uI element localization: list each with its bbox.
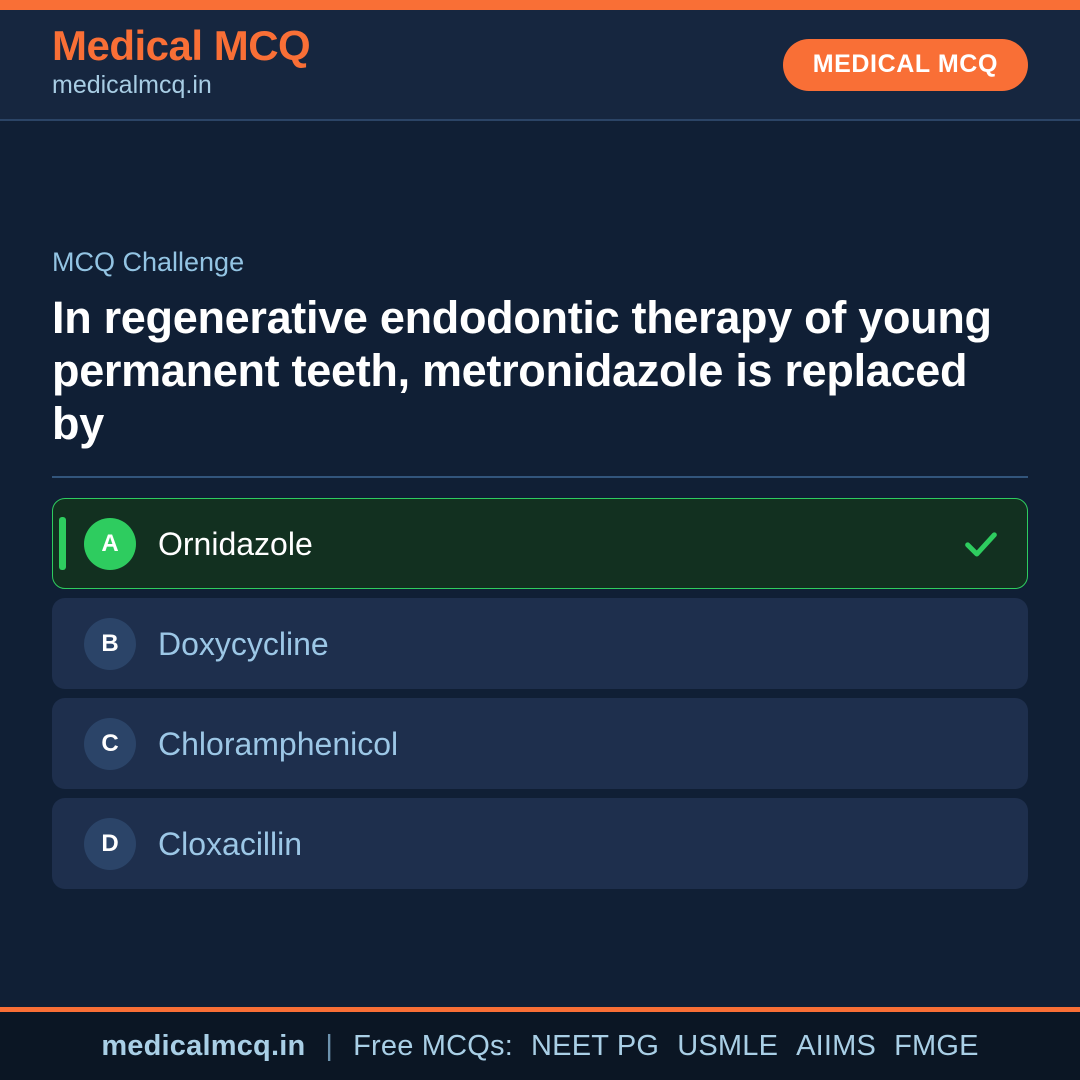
footer-site-link[interactable]: medicalmcq.in <box>101 1030 305 1063</box>
option-c-letter-badge: C <box>84 718 136 770</box>
section-divider <box>52 476 1028 478</box>
footer-exam-neet-pg: NEET PG <box>527 1030 659 1063</box>
footer-label: Free MCQs: <box>353 1030 513 1063</box>
header-badge: MEDICAL MCQ <box>783 39 1028 91</box>
options-list: A Ornidazole B Doxycycline C Chloramphen… <box>52 498 1028 897</box>
footer: medicalmcq.in | Free MCQs: NEET PG USMLE… <box>0 1012 1080 1080</box>
footer-exam-fmge: FMGE <box>890 1030 979 1063</box>
option-a[interactable]: A Ornidazole <box>52 498 1028 589</box>
option-b[interactable]: B Doxycycline <box>52 598 1028 689</box>
footer-separator: | <box>319 1030 339 1063</box>
brand: Medical MCQ medicalmcq.in <box>52 24 310 101</box>
top-accent-bar <box>0 0 1080 10</box>
check-icon <box>961 524 1001 564</box>
main-content: MCQ Challenge In regenerative endodontic… <box>0 121 1080 1007</box>
question-text: In regenerative endodontic therapy of yo… <box>52 292 1012 450</box>
brand-subtitle: medicalmcq.in <box>52 70 310 101</box>
option-c[interactable]: C Chloramphenicol <box>52 698 1028 789</box>
option-d-letter-badge: D <box>84 818 136 870</box>
option-d[interactable]: D Cloxacillin <box>52 798 1028 889</box>
option-c-label: Chloramphenicol <box>158 725 398 763</box>
kicker-label: MCQ Challenge <box>52 121 1028 278</box>
mcq-card: Medical MCQ medicalmcq.in MEDICAL MCQ MC… <box>0 0 1080 1080</box>
option-b-label: Doxycycline <box>158 625 329 663</box>
option-a-label: Ornidazole <box>158 525 313 563</box>
footer-text: medicalmcq.in | Free MCQs: NEET PG USMLE… <box>101 1030 978 1063</box>
brand-title: Medical MCQ <box>52 24 310 68</box>
option-d-label: Cloxacillin <box>158 825 302 863</box>
footer-exam-aiims: AIIMS <box>792 1030 876 1063</box>
option-a-letter-badge: A <box>84 518 136 570</box>
option-b-letter-badge: B <box>84 618 136 670</box>
header: Medical MCQ medicalmcq.in MEDICAL MCQ <box>0 10 1080 121</box>
footer-exam-usmle: USMLE <box>673 1030 778 1063</box>
correct-accent-bar <box>59 517 66 570</box>
